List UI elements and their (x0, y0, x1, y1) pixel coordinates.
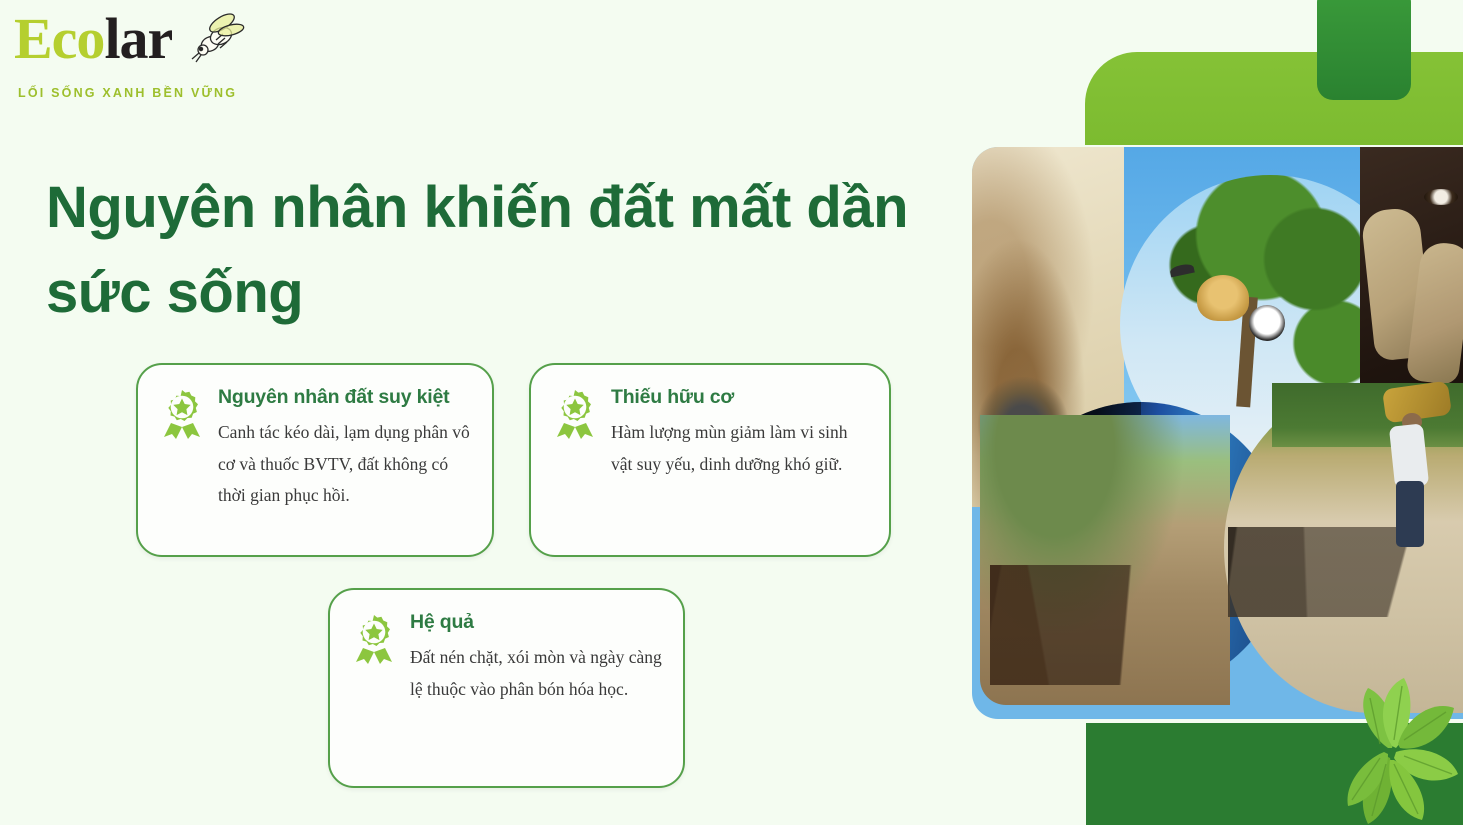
brand-tagline: LỐI SỐNG XANH BỀN VỮNG (18, 86, 237, 100)
brand-name-lar: lar (104, 6, 172, 71)
card-title: Nguyên nhân đất suy kiệt (218, 387, 476, 408)
award-badge-icon (160, 389, 204, 439)
award-badge-icon (553, 389, 597, 439)
bee-icon (188, 10, 248, 66)
brand-wordmark: Ecolar (14, 10, 172, 68)
card-title: Hệ quả (410, 612, 667, 633)
decor-square-dark-green (1317, 0, 1411, 100)
card-description: Canh tác kéo dài, lạm dụng phân vô cơ và… (218, 417, 476, 510)
collage-lion (1197, 275, 1249, 321)
collage-farmer (1380, 385, 1450, 555)
basil-plant-icon (1310, 648, 1463, 825)
collage-eye (1424, 189, 1458, 205)
brand-name-eco: Eco (14, 6, 104, 71)
award-badge-icon (352, 614, 396, 664)
environment-photo-collage (972, 147, 1463, 719)
page-title: Nguyên nhân khiến đất mất dần sức sống (46, 166, 926, 335)
card-description: Hàm lượng mùn giảm làm vi sinh vật suy y… (611, 417, 873, 479)
card-title: Thiếu hữu cơ (611, 387, 873, 408)
info-card-2[interactable]: Thiếu hữu cơ Hàm lượng mùn giảm làm vi s… (529, 363, 891, 557)
card-description: Đất nén chặt, xói mòn và ngày càng lệ th… (410, 642, 667, 704)
collage-panda (1249, 305, 1285, 341)
info-card-3[interactable]: Hệ quả Đất nén chặt, xói mòn và ngày càn… (328, 588, 685, 788)
info-card-1[interactable]: Nguyên nhân đất suy kiệt Canh tác kéo dà… (136, 363, 494, 557)
brand-logo[interactable]: Ecolar LỐI SỐNG XANH BỀN VỮNG (10, 8, 260, 113)
collage-deforestation (980, 415, 1230, 705)
